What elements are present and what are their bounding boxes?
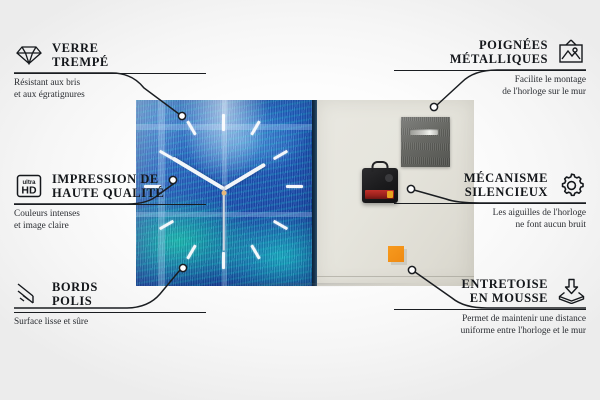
- feature-title-line2: POLIS: [52, 294, 92, 308]
- feature-sub-line1: Facilite le montage: [515, 75, 586, 85]
- polished-edges-icon: [14, 280, 44, 308]
- feature-title-line1: ENTRETOISE: [461, 277, 548, 291]
- feature-sub-line2: et image claire: [14, 221, 69, 231]
- clock-second-hand: [223, 189, 225, 251]
- feature-title-line1: IMPRESSION DE: [52, 172, 159, 186]
- ultra-hd-icon: ultra HD: [14, 172, 44, 200]
- mechanism-hanging-loop: [372, 161, 389, 172]
- feature-sub-line2: uniforme entre l'horloge et le mur: [461, 326, 586, 336]
- feature-title-line2: SILENCIEUX: [465, 185, 548, 199]
- infographic-canvas: VERRE TREMPÉ Résistant aux bris et aux é…: [0, 0, 600, 400]
- feature-title-line2: MÉTALLIQUES: [450, 52, 548, 66]
- feature-sub-line2: et aux égratignures: [14, 90, 85, 100]
- feature-divider: [394, 70, 586, 71]
- clock-tick: [186, 244, 197, 259]
- feature-title-line1: MÉCANISME: [464, 171, 548, 185]
- feature-entretoise-en-mousse: ENTRETOISE EN MOUSSE Permet de maintenir…: [394, 276, 586, 337]
- silent-clock-mechanism: [362, 168, 398, 203]
- feature-bords-polis: BORDS POLIS Surface lisse et sûre: [14, 279, 206, 329]
- feature-impression-haute-qualite: ultra HD IMPRESSION DE HAUTE QUALITÉ Cou…: [14, 171, 206, 232]
- feature-divider: [14, 312, 206, 313]
- clock-center-cap: [222, 191, 227, 196]
- feature-sub-line1: Résistant aux bris: [14, 78, 80, 88]
- foam-spacer: [388, 246, 404, 262]
- mechanism-set-dial: [385, 174, 393, 182]
- picture-frame-hanger-icon: [556, 38, 586, 66]
- clock-tick: [186, 120, 197, 135]
- feature-sub-line1: Surface lisse et sûre: [14, 317, 88, 327]
- clock-hour-hand: [223, 163, 266, 191]
- battery: [365, 190, 394, 199]
- gear-icon: [556, 171, 586, 199]
- clock-tick: [250, 120, 261, 135]
- feature-sub-line2: ne font aucun bruit: [516, 220, 586, 230]
- press-down-pad-icon: [556, 277, 586, 305]
- diamond-icon: [14, 41, 44, 69]
- feature-mecanisme-silencieux: MÉCANISME SILENCIEUX Les aiguilles de l'…: [394, 170, 586, 231]
- clock-tick: [273, 150, 288, 161]
- bracket-slot: [410, 129, 438, 135]
- feature-sub-line1: Les aiguilles de l'horloge: [493, 208, 586, 218]
- feature-poignees-metalliques: POIGNÉES MÉTALLIQUES Facilite le montage…: [394, 37, 586, 98]
- feature-title-line2: HAUTE QUALITÉ: [52, 186, 164, 200]
- feature-sub-line1: Permet de maintenir une distance: [462, 314, 586, 324]
- metal-hanger-bracket: [401, 117, 450, 167]
- feature-divider: [394, 203, 586, 204]
- feature-divider: [14, 73, 206, 74]
- ultra-hd-large-text: HD: [21, 185, 37, 197]
- feature-title-line2: EN MOUSSE: [470, 291, 548, 305]
- feature-divider: [394, 309, 586, 310]
- clock-tick: [286, 185, 303, 188]
- clock-tick: [250, 244, 261, 259]
- feature-title-line1: VERRE: [52, 41, 99, 55]
- feature-verre-trempe: VERRE TREMPÉ Résistant aux bris et aux é…: [14, 40, 206, 101]
- clock-tick: [222, 114, 225, 131]
- feature-sub-line1: Couleurs intenses: [14, 209, 80, 219]
- clock-tick: [273, 220, 288, 231]
- feature-title-line2: TREMPÉ: [52, 55, 109, 69]
- feature-title-line1: POIGNÉES: [479, 38, 548, 52]
- clock-tick: [222, 252, 225, 269]
- feature-sub-line2: de l'horloge sur le mur: [502, 87, 586, 97]
- feature-title-line1: BORDS: [52, 280, 98, 294]
- feature-divider: [14, 204, 206, 205]
